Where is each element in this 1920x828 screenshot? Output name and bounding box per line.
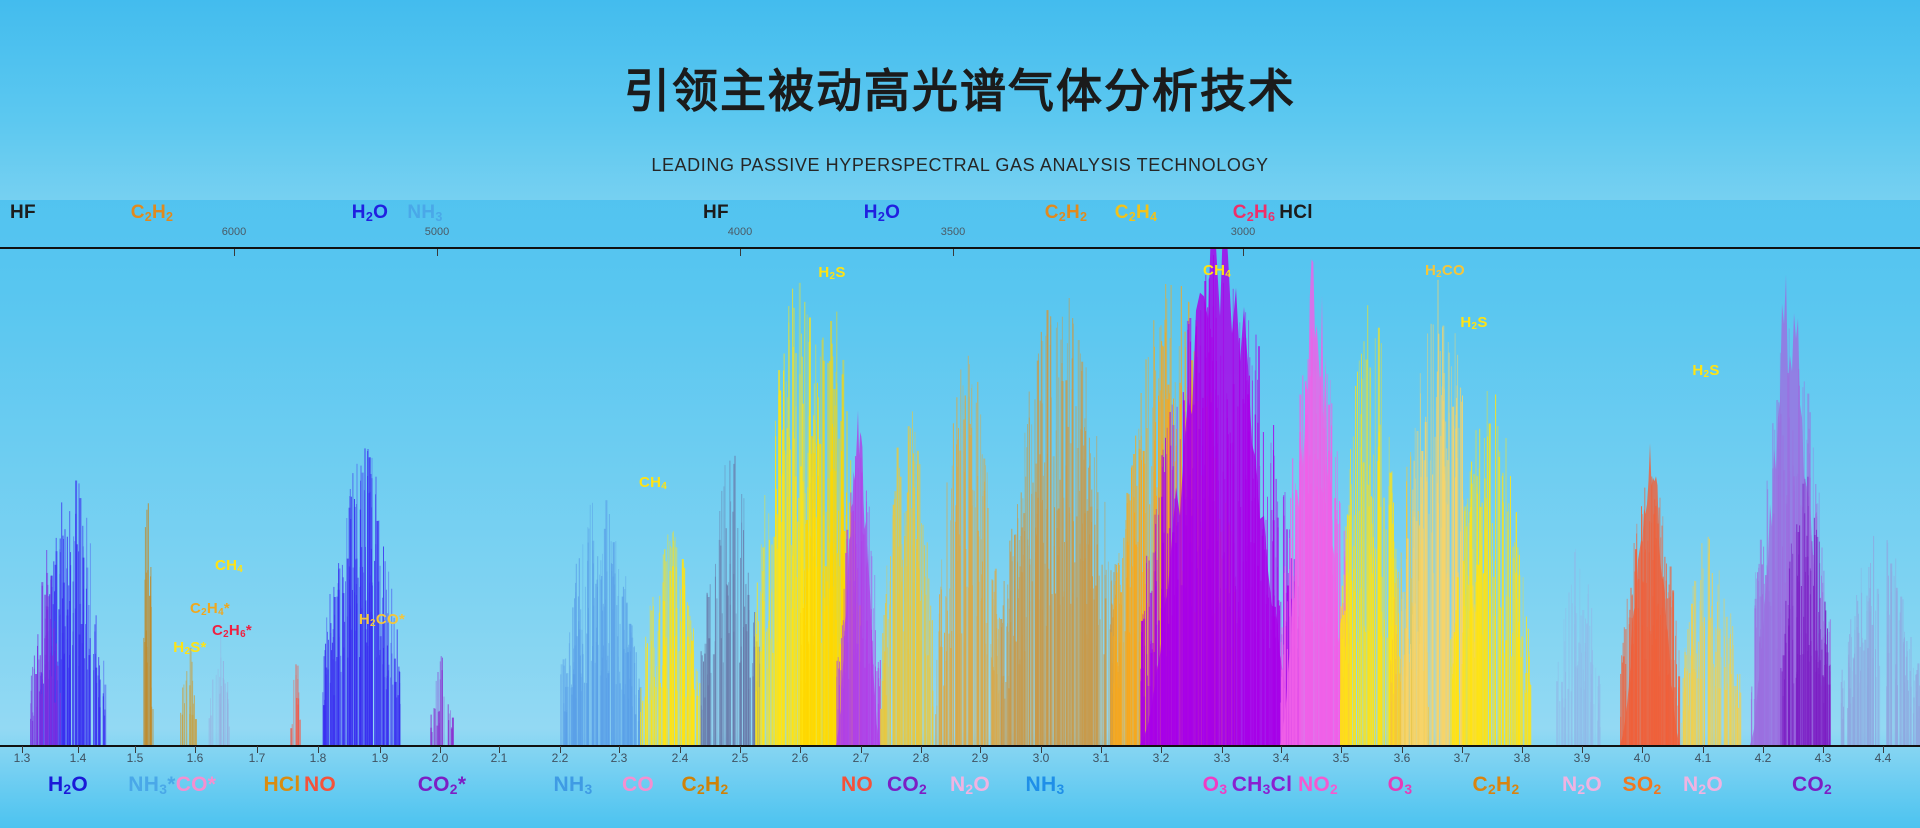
spectral-line: [930, 606, 931, 745]
spectral-line: [380, 650, 381, 745]
spectral-line: [1468, 637, 1469, 745]
spectral-line: [693, 689, 694, 745]
spectral-line: [351, 497, 352, 745]
spectral-line: [1567, 689, 1569, 745]
spectral-line: [943, 686, 945, 746]
spectral-line: [1337, 624, 1338, 745]
spectral-line: [365, 547, 366, 745]
spectral-line: [1063, 597, 1064, 745]
spectral-line: [1916, 701, 1917, 745]
spectral-line: [151, 688, 152, 745]
spectral-line: [1808, 575, 1809, 745]
spectral-line: [897, 579, 898, 745]
spectral-line: [660, 683, 661, 745]
spectral-line: [1730, 634, 1731, 745]
spectral-line: [1115, 581, 1116, 745]
spectral-line: [440, 679, 441, 745]
spectral-line: [862, 533, 863, 745]
spectral-line: [1489, 470, 1490, 745]
spectral-line: [977, 476, 978, 745]
spectral-line: [1649, 552, 1650, 745]
spectral-line: [1117, 662, 1118, 745]
spectral-line: [1245, 312, 1246, 745]
spectral-line: [981, 601, 982, 745]
spectral-line: [73, 536, 74, 745]
spectral-line: [1004, 699, 1005, 745]
spectral-line: [935, 714, 936, 745]
spectral-line: [1523, 577, 1524, 745]
spectral-line: [701, 706, 702, 746]
spectral-line: [342, 593, 344, 745]
gas-annotation: H2S: [1460, 314, 1487, 331]
spectral-line: [99, 680, 100, 745]
spectral-line: [48, 596, 50, 745]
spectral-line: [1676, 664, 1677, 745]
spectral-line: [1774, 514, 1775, 745]
spectral-line: [735, 456, 736, 745]
spectral-line: [631, 686, 632, 745]
spectral-line: [1700, 627, 1701, 746]
spectral-line: [576, 564, 577, 745]
spectral-line: [1040, 597, 1041, 745]
spectral-line: [1666, 690, 1667, 745]
spectral-line: [1668, 592, 1669, 745]
spectral-line: [1495, 561, 1496, 745]
spectral-line: [586, 634, 587, 746]
spectral-line: [1273, 425, 1274, 745]
spectral-line: [596, 628, 597, 745]
spectral-line: [563, 666, 565, 745]
spectral-line: [1021, 492, 1022, 745]
spectral-line: [696, 699, 697, 745]
spectral-line: [1045, 336, 1046, 745]
spectral-line: [1294, 598, 1295, 745]
spectral-line: [986, 623, 988, 745]
bottom-axis-tick-label: 3.0: [1033, 751, 1050, 765]
spectral-line: [326, 617, 327, 745]
spectral-line: [760, 591, 761, 745]
gas-label-top: H2O: [352, 202, 388, 224]
spectral-line: [1308, 494, 1309, 746]
spectral-line: [1386, 529, 1387, 745]
spectral-line: [1599, 675, 1600, 745]
spectral-line: [965, 396, 966, 746]
spectral-line: [1829, 666, 1830, 745]
spectral-line: [1090, 453, 1091, 745]
spectrum-svg: [0, 249, 1920, 745]
spectral-line: [1309, 598, 1310, 745]
spectral-line: [1129, 633, 1130, 745]
spectral-line: [852, 511, 853, 745]
spectral-line: [1244, 404, 1245, 745]
spectral-line: [719, 511, 720, 745]
spectral-line: [1023, 513, 1025, 745]
band-co2-2800: [880, 411, 933, 745]
spectral-line: [625, 684, 626, 745]
spectral-line: [1290, 498, 1291, 745]
spectral-line: [887, 647, 888, 745]
spectral-line: [1121, 605, 1122, 745]
gas-label-top: C2H2: [131, 202, 174, 224]
spectral-line: [1317, 490, 1318, 745]
spectral-line: [374, 561, 375, 745]
spectral-line: [880, 679, 881, 745]
spectral-line: [1240, 507, 1241, 745]
spectral-line: [779, 390, 781, 745]
bottom-axis-tick-label: 1.7: [249, 751, 266, 765]
spectral-line: [76, 544, 78, 745]
page-subtitle: LEADING PASSIVE HYPERSPECTRAL GAS ANALYS…: [0, 155, 1920, 176]
spectral-line: [686, 697, 687, 745]
spectral-line: [821, 340, 823, 745]
spectral-line: [1635, 654, 1636, 745]
spectral-line: [708, 685, 709, 745]
spectral-line: [1571, 691, 1572, 745]
spectral-line: [32, 667, 33, 745]
spectral-line: [1762, 594, 1763, 745]
spectral-line: [817, 383, 818, 745]
spectral-line: [569, 643, 570, 745]
spectral-line: [1473, 608, 1474, 746]
spectral-line: [736, 614, 737, 746]
spectral-line: [1704, 617, 1705, 745]
spectral-line: [144, 642, 145, 745]
top-axis-tick-label: 4000: [728, 226, 752, 238]
spectral-line: [293, 680, 294, 745]
spectral-line: [733, 632, 734, 745]
spectral-line: [66, 616, 68, 746]
spectral-line: [216, 675, 217, 745]
spectral-line: [1478, 565, 1480, 745]
spectral-line: [565, 659, 566, 746]
spectral-line: [1697, 678, 1698, 745]
spectral-line: [1437, 483, 1438, 745]
spectral-line: [1860, 647, 1861, 745]
spectral-line: [640, 712, 641, 745]
spectral-line: [926, 595, 927, 745]
spectral-line: [655, 687, 657, 745]
spectral-line: [1632, 594, 1633, 745]
spectral-line: [1888, 576, 1889, 745]
spectral-line: [728, 582, 729, 745]
bottom-axis-tick-label: 3.9: [1574, 751, 1591, 765]
gas-label-bottom: CH3Cl: [1232, 773, 1293, 797]
spectral-line: [1590, 702, 1591, 745]
spectral-line: [910, 428, 911, 745]
bottom-axis-tick-label: 3.7: [1454, 751, 1471, 765]
spectral-line: [1756, 628, 1757, 746]
spectral-line: [322, 692, 323, 745]
spectral-line: [600, 560, 601, 745]
spectral-line: [1716, 629, 1717, 745]
spectral-line: [1683, 678, 1684, 745]
spectral-line: [1143, 621, 1144, 745]
spectral-line: [606, 660, 607, 745]
bottom-axis-tick-label: 4.4: [1875, 751, 1892, 765]
spectral-line: [949, 634, 950, 745]
spectral-line: [605, 600, 606, 745]
gas-label-bottom: H2O: [48, 773, 88, 797]
spectral-line: [1338, 524, 1339, 745]
spectral-line: [1248, 320, 1249, 745]
bottom-axis-tick-label: 1.9: [372, 751, 389, 765]
spectral-line: [720, 546, 721, 745]
band-n2o-4100: [1681, 537, 1742, 745]
spectral-line: [1765, 575, 1767, 745]
spectral-line: [1694, 594, 1695, 745]
spectral-line: [1125, 529, 1126, 745]
bottom-axis-tick-label: 1.8: [310, 751, 327, 765]
spectral-line: [1111, 632, 1112, 745]
spectral-line: [1864, 651, 1865, 746]
spectral-line: [1641, 679, 1642, 745]
spectral-line: [1447, 504, 1448, 745]
gas-annotation: H2CO*: [359, 611, 405, 628]
spectral-line: [1559, 701, 1560, 745]
spectral-line: [1435, 437, 1436, 745]
spectral-line: [725, 465, 726, 745]
spectral-line: [957, 440, 958, 745]
spectral-line: [1579, 569, 1580, 745]
spectral-line: [436, 681, 437, 745]
bottom-axis-tick-label: 1.3: [14, 751, 31, 765]
spectral-line: [855, 577, 856, 745]
spectral-line: [1577, 668, 1578, 745]
gas-label-bottom: NH3: [554, 773, 593, 797]
spectral-line: [722, 613, 723, 745]
spectral-line: [787, 551, 788, 745]
gas-label-top: HF: [10, 202, 36, 224]
spectral-line: [1703, 569, 1704, 746]
spectral-line: [748, 573, 749, 745]
spectral-line: [358, 578, 359, 745]
spectral-line: [1634, 543, 1635, 745]
spectral-line: [842, 625, 843, 745]
spectral-line: [1638, 623, 1639, 745]
spectral-line: [967, 587, 968, 745]
spectral-line: [1349, 469, 1350, 745]
spectral-line: [692, 678, 693, 745]
spectral-line: [1815, 672, 1817, 745]
spectral-line: [968, 356, 969, 745]
band-co2-2000: [430, 656, 454, 745]
bottom-axis-line: [0, 745, 1920, 747]
spectral-line: [1622, 663, 1623, 746]
page-title: 引领主被动高光谱气体分析技术: [0, 55, 1920, 121]
spectral-line: [1208, 352, 1210, 745]
spectral-line: [1044, 462, 1045, 745]
spectral-line: [594, 598, 595, 745]
spectral-line: [874, 575, 875, 745]
spectral-line: [383, 547, 384, 746]
spectral-line: [1810, 656, 1811, 745]
spectral-line: [361, 608, 362, 745]
spectral-line: [1078, 340, 1080, 745]
spectral-line: [1110, 629, 1111, 745]
spectral-line: [1303, 567, 1304, 745]
spectral-line: [925, 595, 926, 745]
spectral-line: [1057, 528, 1058, 745]
spectral-line: [1662, 516, 1663, 745]
spectral-line: [1620, 674, 1621, 745]
spectral-line: [352, 590, 353, 745]
spectral-line: [1369, 465, 1370, 745]
spectral-line: [1799, 582, 1800, 745]
spectral-line: [769, 540, 770, 745]
spectral-line: [1100, 619, 1101, 745]
spectral-line: [854, 655, 855, 745]
spectral-line: [1138, 542, 1139, 745]
spectral-line: [1119, 553, 1120, 745]
gas-label-bottom: N2O: [1562, 773, 1602, 797]
spectral-line: [1481, 635, 1483, 746]
spectral-line: [953, 423, 954, 745]
spectral-line: [866, 640, 868, 745]
spectral-line: [864, 668, 865, 745]
spectral-line: [1861, 593, 1862, 745]
spectral-line: [1006, 626, 1007, 745]
spectral-line: [1368, 590, 1369, 745]
spectral-line: [1499, 457, 1500, 745]
spectral-line: [1855, 675, 1856, 746]
gas-label-bottom: CO*: [176, 773, 217, 797]
spectral-line: [743, 530, 744, 745]
spectral-line: [1037, 514, 1038, 745]
spectral-line: [889, 605, 890, 746]
spectral-line: [1510, 476, 1511, 745]
spectral-line: [1191, 516, 1192, 745]
spectral-line: [1157, 560, 1158, 745]
spectral-line: [892, 651, 893, 746]
spectral-line: [1365, 632, 1366, 745]
spectral-line: [1842, 688, 1843, 745]
band-n2o-3900: [1556, 549, 1601, 745]
spectral-line: [869, 664, 870, 745]
spectral-line: [1284, 628, 1285, 746]
spectral-line: [450, 710, 451, 745]
spectral-line: [1127, 542, 1129, 745]
spectral-line: [741, 494, 742, 745]
spectral-line: [1809, 662, 1810, 745]
spectral-line: [950, 648, 952, 745]
spectral-line: [663, 554, 664, 745]
spectral-line: [296, 664, 297, 745]
spectral-line: [830, 601, 831, 745]
spectral-line: [1311, 630, 1312, 745]
spectral-line: [664, 601, 665, 745]
spectral-line: [85, 624, 86, 745]
spectral-line: [1189, 405, 1190, 745]
spectral-line: [1907, 680, 1908, 745]
band-ch4-2300: [640, 531, 701, 745]
spectral-line: [209, 718, 210, 745]
spectral-line: [762, 594, 763, 745]
spectral-line: [996, 674, 998, 745]
spectral-line: [573, 690, 574, 745]
spectral-line: [810, 670, 811, 745]
spectral-line: [1380, 507, 1381, 745]
spectral-line: [1708, 644, 1709, 745]
spectral-line: [1008, 599, 1009, 745]
spectral-line: [1412, 614, 1413, 745]
spectral-line: [180, 713, 181, 745]
spectral-line: [1328, 405, 1330, 745]
spectral-line: [30, 703, 31, 745]
spectral-line: [1869, 588, 1871, 745]
header-banner: 引领主被动高光谱气体分析技术 LEADING PASSIVE HYPERSPEC…: [0, 0, 1920, 200]
spectral-line: [845, 553, 847, 745]
spectral-line: [1651, 634, 1652, 745]
spectral-line: [1646, 659, 1647, 745]
spectral-line: [789, 340, 790, 745]
spectral-line: [37, 634, 38, 745]
spectral-line: [1872, 625, 1874, 745]
spectral-line: [1195, 335, 1196, 745]
spectral-line: [982, 454, 983, 745]
spectral-line: [752, 663, 753, 745]
gas-annotation: H2S: [818, 264, 845, 281]
gas-label-bottom: N2O: [1683, 773, 1723, 797]
spectral-line: [1793, 683, 1794, 745]
spectral-line: [442, 658, 443, 745]
spectral-line: [758, 687, 759, 745]
spectral-line: [1342, 639, 1343, 745]
spectral-line: [885, 695, 887, 745]
spectral-line: [1516, 513, 1517, 745]
spectral-line: [1122, 558, 1123, 745]
spectral-line: [1530, 684, 1531, 745]
spectral-line: [1215, 277, 1216, 745]
spectral-line: [1070, 443, 1072, 745]
spectral-line: [1003, 605, 1004, 745]
spectral-line: [1664, 557, 1665, 745]
spectral-line: [1768, 570, 1769, 745]
spectral-line: [1713, 664, 1714, 745]
gas-label-top: H2O: [864, 202, 900, 224]
gas-annotation: H2CO: [1425, 262, 1465, 279]
spectral-line: [1812, 541, 1813, 745]
spectral-line: [833, 469, 834, 745]
spectral-line: [387, 646, 388, 746]
spectral-line: [1214, 501, 1215, 745]
spectral-line: [103, 661, 104, 745]
spectral-line: [927, 542, 928, 745]
spectral-line: [690, 621, 691, 746]
spectral-line: [430, 728, 432, 745]
spectral-line: [992, 580, 993, 745]
bottom-axis-tick-label: 2.4: [672, 751, 689, 765]
spectral-line: [223, 680, 224, 745]
spectral-line: [1102, 565, 1103, 745]
spectral-line: [1696, 653, 1697, 745]
spectral-line: [74, 541, 75, 745]
spectral-line: [1804, 513, 1805, 745]
spectral-line: [1732, 626, 1733, 745]
spectral-line: [1331, 403, 1332, 745]
spectral-line: [1785, 634, 1786, 745]
spectral-line: [578, 621, 579, 745]
spectral-line: [1644, 488, 1645, 745]
spectral-line: [592, 550, 593, 745]
spectral-line: [1180, 439, 1181, 745]
spectral-line: [451, 727, 452, 745]
spectral-line: [182, 688, 183, 746]
spectral-line: [703, 662, 704, 746]
spectral-line: [1255, 632, 1256, 745]
spectral-line: [378, 582, 379, 746]
spectral-line: [210, 698, 211, 745]
spectral-line: [1751, 687, 1752, 746]
